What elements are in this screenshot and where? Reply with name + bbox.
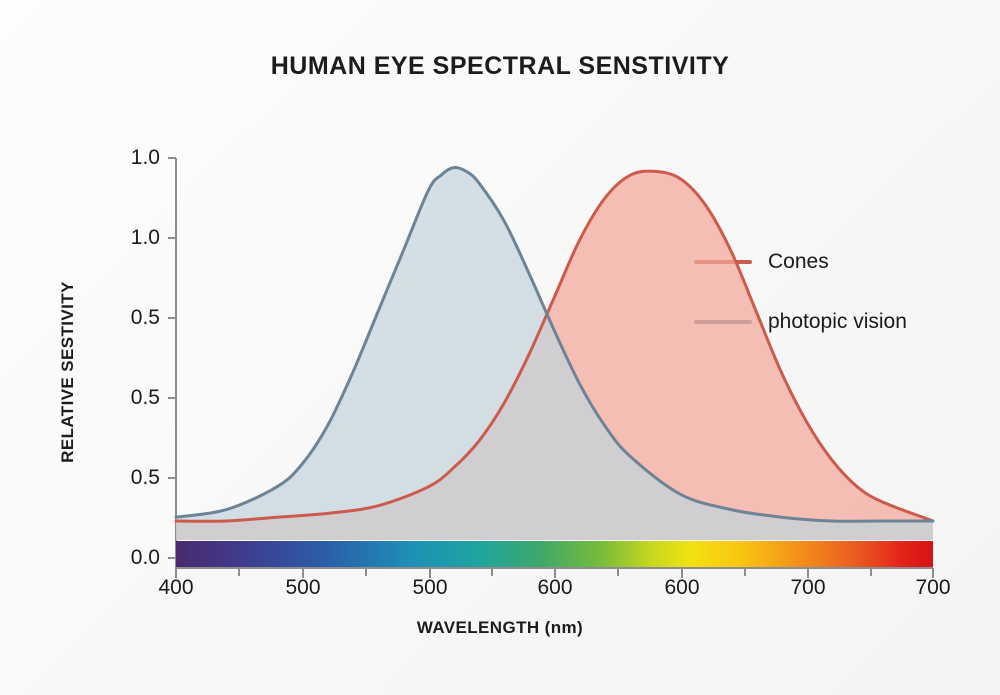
plot-area [0,0,1000,695]
chart-container: HUMAN EYE SPECTRAL SENSTIVITY RELATIVE S… [0,0,1000,695]
y-axis-ticks [168,158,176,558]
x-axis-ticks [176,568,933,578]
visible-spectrum-bar [176,541,933,567]
